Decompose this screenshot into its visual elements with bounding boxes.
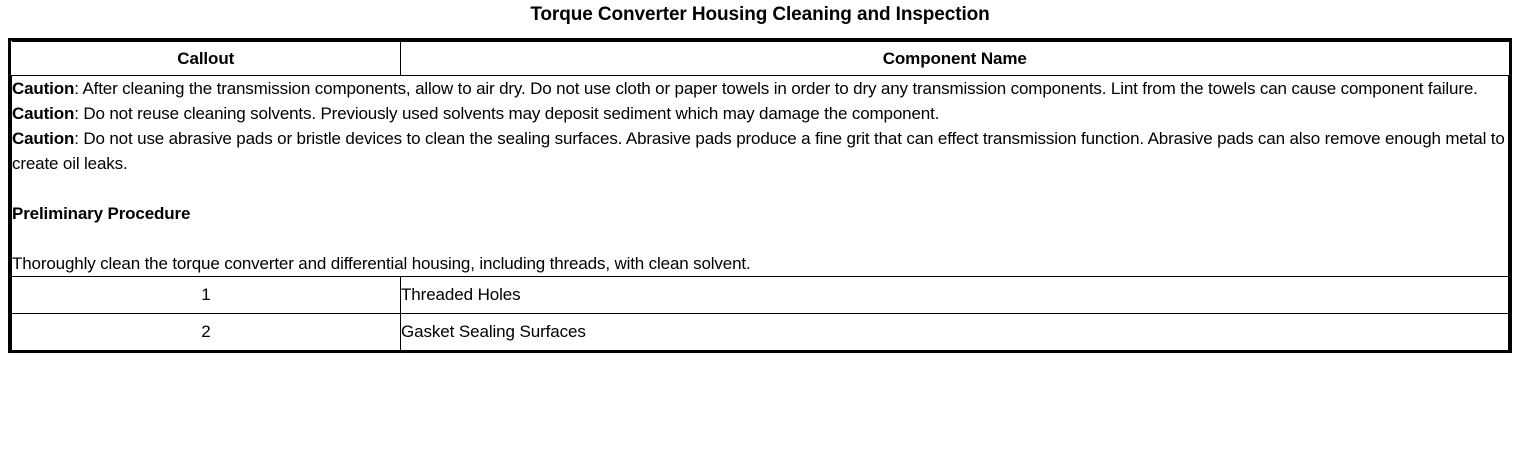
preliminary-procedure-text: Thoroughly clean the torque converter an… (12, 251, 1508, 276)
column-header-component-name: Component Name (401, 42, 1509, 76)
caution-note-2: Caution: Do not reuse cleaning solvents.… (12, 101, 1508, 126)
caution-text-3: Do not use abrasive pads or bristle devi… (12, 129, 1505, 173)
notes-row: Caution: After cleaning the transmission… (12, 76, 1509, 277)
column-header-callout: Callout (12, 42, 401, 76)
caution-label-1: Caution (12, 79, 74, 98)
table-body: Caution: After cleaning the transmission… (12, 76, 1509, 351)
table-row: 2 Gasket Sealing Surfaces (12, 314, 1509, 351)
caution-note-3: Caution: Do not use abrasive pads or bri… (12, 126, 1508, 176)
spec-table: Callout Component Name Caution: After cl… (11, 41, 1509, 350)
caution-separator-2: : (74, 104, 83, 123)
caution-text-1: After cleaning the transmission componen… (82, 79, 1477, 98)
table-row: 1 Threaded Holes (12, 277, 1509, 314)
caution-label-3: Caution (12, 129, 74, 148)
callout-number: 1 (12, 277, 401, 314)
caution-separator-3: : (74, 129, 83, 148)
table-header-row: Callout Component Name (12, 42, 1509, 76)
component-name-value: Gasket Sealing Surfaces (401, 314, 1509, 351)
spec-table-container: Callout Component Name Caution: After cl… (8, 38, 1512, 353)
notes-cell: Caution: After cleaning the transmission… (12, 76, 1509, 277)
preliminary-procedure-heading: Preliminary Procedure (12, 201, 1508, 226)
table-header: Callout Component Name (12, 42, 1509, 76)
callout-number: 2 (12, 314, 401, 351)
page-title: Torque Converter Housing Cleaning and In… (0, 0, 1520, 26)
document-page: Torque Converter Housing Cleaning and In… (0, 0, 1520, 452)
caution-label-2: Caution (12, 104, 74, 123)
caution-text-2: Do not reuse cleaning solvents. Previous… (83, 104, 939, 123)
caution-note-1: Caution: After cleaning the transmission… (12, 76, 1508, 101)
component-name-value: Threaded Holes (401, 277, 1509, 314)
